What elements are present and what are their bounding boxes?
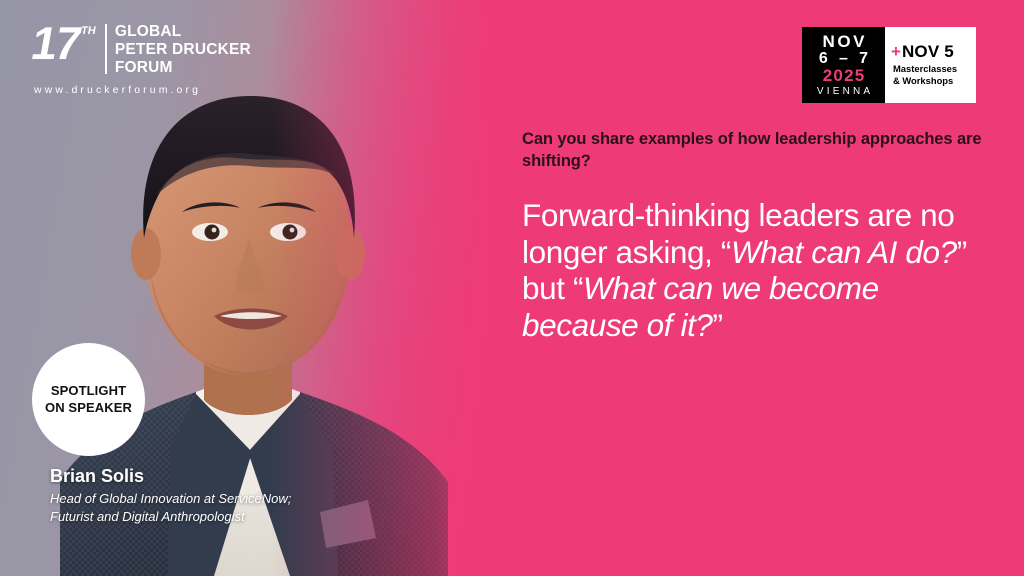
speaker-info-block: Brian Solis Head of Global Innovation at… — [50, 466, 291, 527]
logo-ordinal-suffix: TH — [80, 26, 97, 37]
speaker-spotlight-poster: 17 TH GLOBAL PETER DRUCKER FORUM www.dru… — [0, 0, 1024, 576]
speaker-name: Brian Solis — [50, 466, 291, 488]
speaker-role-line2: Futurist and Digital Anthropologist — [50, 508, 291, 526]
drucker-forum-logo: 17 TH GLOBAL PETER DRUCKER FORUM www.dru… — [32, 22, 251, 96]
speaker-quote: Forward-thinking leaders are no longer a… — [522, 197, 992, 343]
quote-part-2-italic: What can AI do? — [731, 234, 957, 270]
masterclass-headline: + NOV 5 — [891, 43, 954, 60]
logo-divider — [105, 24, 107, 74]
masterclass-subtitle-line1: Masterclasses — [893, 63, 957, 75]
date-badge-month: NOV — [822, 33, 867, 51]
logo-line-forum: FORUM — [115, 59, 251, 77]
date-badge-days: 6 – 7 — [819, 51, 872, 68]
quote-part-5: ” — [713, 307, 723, 343]
date-badge-year: 2025 — [823, 67, 866, 86]
spotlight-badge-line1: SPOTLIGHT — [51, 383, 126, 398]
speaker-role-line1: Head of Global Innovation at ServiceNow; — [50, 490, 291, 508]
content-panel: Can you share examples of how leadership… — [522, 128, 992, 343]
speaker-role: Head of Global Innovation at ServiceNow;… — [50, 490, 291, 527]
logo-website-url: www.druckerforum.org — [34, 84, 251, 96]
logo-line-peter-drucker: PETER DRUCKER — [115, 41, 251, 59]
date-badge-main-panel: NOV 6 – 7 2025 VIENNA — [802, 27, 885, 103]
logo-line-global: GLOBAL — [115, 23, 251, 41]
logo-mark-row: 17 TH GLOBAL PETER DRUCKER FORUM — [32, 22, 251, 77]
plus-icon: + — [891, 43, 901, 60]
logo-wordmark: GLOBAL PETER DRUCKER FORUM — [115, 22, 251, 77]
event-date-badge: NOV 6 – 7 2025 VIENNA + NOV 5 Masterclas… — [802, 27, 976, 103]
spotlight-badge-line2: ON SPEAKER — [45, 400, 132, 415]
masterclass-date: NOV 5 — [902, 43, 954, 60]
date-badge-city: VIENNA — [817, 86, 873, 97]
masterclass-subtitle-line2: & Workshops — [893, 75, 957, 87]
spotlight-on-speaker-badge: SPOTLIGHTON SPEAKER — [32, 343, 145, 456]
spotlight-badge-text: SPOTLIGHTON SPEAKER — [45, 383, 132, 416]
date-badge-masterclass-panel: + NOV 5 Masterclasses & Workshops — [885, 27, 976, 103]
logo-ordinal-number: 17 — [28, 22, 83, 64]
speaker-photo-panel: 17 TH GLOBAL PETER DRUCKER FORUM www.dru… — [0, 0, 492, 576]
masterclass-subtitle: Masterclasses & Workshops — [893, 63, 957, 87]
interview-question: Can you share examples of how leadership… — [522, 128, 992, 172]
